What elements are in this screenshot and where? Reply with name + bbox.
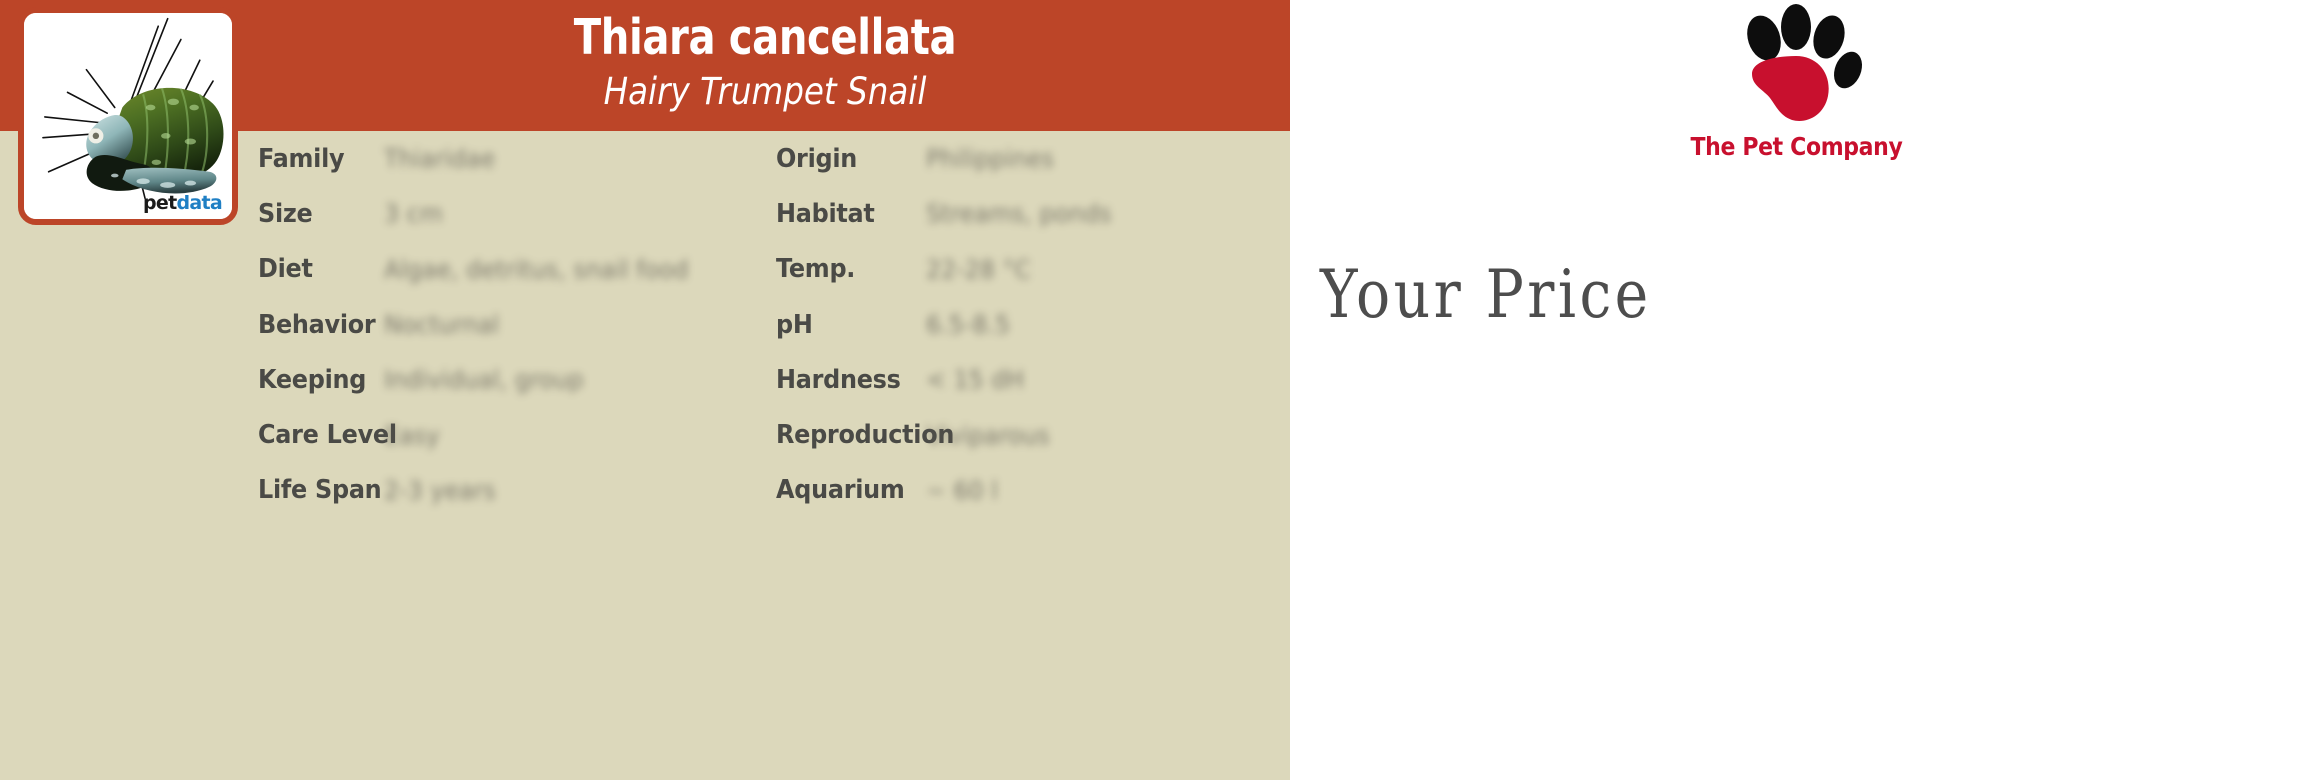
- attribute-row-size: Size 3 cm: [258, 186, 778, 241]
- paw-print-icon: [1722, 4, 1872, 130]
- attribute-label-origin: Origin: [776, 144, 857, 174]
- attribute-value-diet: Algae, detritus, snail food: [384, 255, 689, 284]
- attribute-row-family: Family Thiaridae: [258, 131, 778, 186]
- attribute-label-family: Family: [258, 144, 344, 174]
- attribute-label-keeping: Keeping: [258, 365, 366, 395]
- attribute-label-size: Size: [258, 199, 312, 229]
- common-name: Hairy Trumpet Snail: [303, 68, 1227, 116]
- attribute-value-family: Thiaridae: [384, 144, 495, 173]
- species-info-card: Thiara cancellata Hairy Trumpet Snail: [0, 0, 1290, 780]
- brand-name: The Pet Company: [1351, 132, 2242, 161]
- attribute-row-temp: Temp. 22-28 °C: [776, 242, 1290, 297]
- attribute-value-habitat: Streams, ponds: [926, 199, 1112, 228]
- attribute-label-hardness: Hardness: [776, 365, 901, 395]
- attribute-row-behavior: Behavior Nocturnal: [258, 297, 778, 352]
- attributes-column-left: Family Thiaridae Size 3 cm Diet Algae, d…: [258, 131, 778, 780]
- attribute-row-care-level: Care Level Easy: [258, 407, 778, 462]
- attribute-value-life-span: 2-3 years: [384, 476, 496, 505]
- price-panel: The Pet Company Your Price: [1290, 0, 2303, 780]
- attribute-label-diet: Diet: [258, 254, 313, 284]
- price-label-screenshot: Thiara cancellata Hairy Trumpet Snail: [0, 0, 2303, 780]
- attribute-value-reproduction: Viviparous: [926, 421, 1050, 450]
- attributes-column-right: Origin Philippines Habitat Streams, pond…: [776, 131, 1290, 780]
- attribute-row-aquarium: Aquarium ~ 60 l: [776, 463, 1290, 518]
- attribute-row-life-span: Life Span 2-3 years: [258, 463, 778, 518]
- attribute-label-life-span: Life Span: [258, 475, 381, 505]
- attributes-table: Family Thiaridae Size 3 cm Diet Algae, d…: [0, 131, 1290, 780]
- attribute-value-hardness: < 15 dH: [926, 365, 1024, 394]
- paw-print-svg: [1722, 4, 1872, 130]
- attribute-row-origin: Origin Philippines: [776, 131, 1290, 186]
- attribute-row-diet: Diet Algae, detritus, snail food: [258, 242, 778, 297]
- attribute-value-origin: Philippines: [926, 144, 1054, 173]
- attribute-value-temp: 22-28 °C: [926, 255, 1031, 284]
- attribute-row-ph: pH 6.5-8.5: [776, 297, 1290, 352]
- attribute-label-care-level: Care Level: [258, 420, 397, 450]
- attribute-value-size: 3 cm: [384, 199, 443, 228]
- attribute-label-ph: pH: [776, 310, 813, 340]
- price-label: Your Price: [1320, 256, 1652, 333]
- attribute-label-habitat: Habitat: [776, 199, 875, 229]
- brand-block: The Pet Company: [1290, 4, 2303, 161]
- attribute-value-keeping: Individual, group: [384, 365, 584, 394]
- attribute-value-ph: 6.5-8.5: [926, 310, 1010, 339]
- attribute-value-care-level: Easy: [384, 421, 440, 450]
- attribute-value-behavior: Nocturnal: [384, 310, 499, 339]
- attribute-label-aquarium: Aquarium: [776, 475, 905, 505]
- attribute-value-aquarium: ~ 60 l: [926, 476, 998, 505]
- attribute-label-behavior: Behavior: [258, 310, 375, 340]
- attribute-row-hardness: Hardness < 15 dH: [776, 352, 1290, 407]
- attribute-row-habitat: Habitat Streams, ponds: [776, 186, 1290, 241]
- scientific-name: Thiara cancellata: [335, 8, 1196, 68]
- attribute-row-reproduction: Reproduction Viviparous: [776, 407, 1290, 462]
- attribute-row-keeping: Keeping Individual, group: [258, 352, 778, 407]
- species-title-block: Thiara cancellata Hairy Trumpet Snail: [240, 8, 1290, 116]
- attribute-label-temp: Temp.: [776, 254, 855, 284]
